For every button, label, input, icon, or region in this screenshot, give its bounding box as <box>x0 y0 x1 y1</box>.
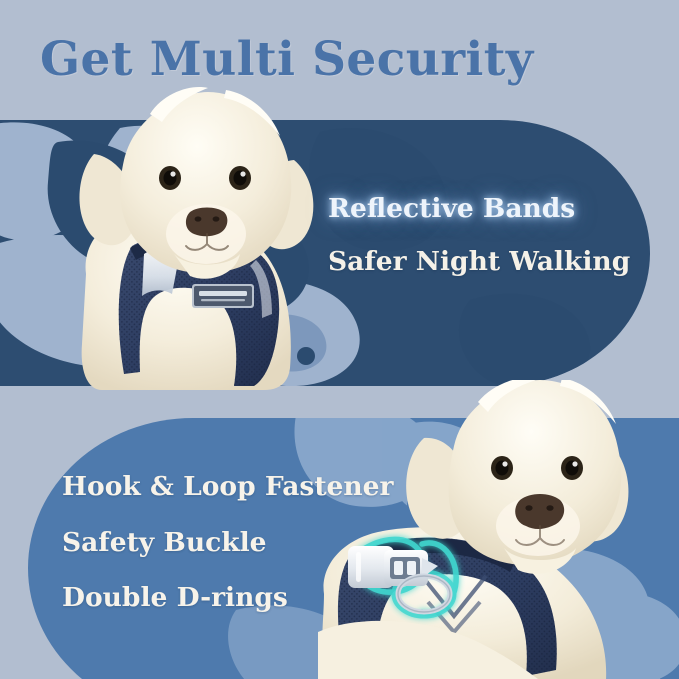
feature-safer-night-walking: Safer Night Walking <box>328 249 658 276</box>
feature-safety-buckle: Safety Buckle <box>62 530 422 557</box>
feature-hook-and-loop-fastener: Hook & Loop Fastener <box>62 474 422 501</box>
page-title: Get Multi Security <box>40 32 534 87</box>
top-product-photo-dog <box>58 78 358 390</box>
harness-brand-label <box>192 284 254 308</box>
bottom-feature-list: Hook & Loop Fastener Safety Buckle Doubl… <box>62 474 422 612</box>
product-feature-graphic: Reflective Bands Safer Night Walking <box>0 0 679 679</box>
feature-reflective-bands: Reflective Bands <box>328 196 658 223</box>
top-feature-list: Reflective Bands Safer Night Walking <box>328 196 658 275</box>
feature-double-d-rings: Double D-rings <box>62 585 422 612</box>
